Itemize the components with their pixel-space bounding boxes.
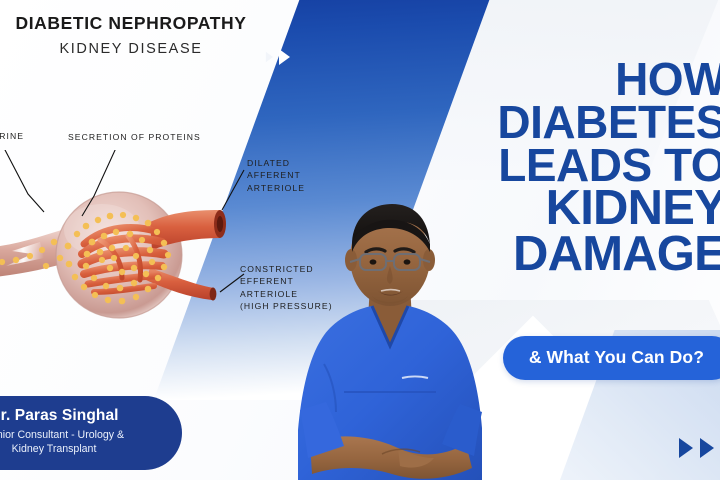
headline-line-4: KIDNEY <box>266 186 720 232</box>
presenter-role-line-1: Senior Consultant - Urology & <box>0 428 156 443</box>
headline-line-2: DIABETES <box>266 101 720 144</box>
presenter-name: Dr. Paras Singhal <box>0 407 156 425</box>
headline-line-5: DAMAGE <box>266 232 720 278</box>
play-triangle-icon <box>700 438 714 458</box>
cta-pill[interactable]: & What You Can Do? <box>503 336 720 380</box>
diagram-label-urine: URINE <box>0 130 24 142</box>
presenter-role: Senior Consultant - Urology & Kidney Tra… <box>0 428 156 457</box>
presenter-name-badge: Dr. Paras Singhal Senior Consultant - Ur… <box>0 396 182 470</box>
poster-canvas: DIABETIC NEPHROPATHY KIDNEY DISEASE <box>0 0 720 480</box>
topic-kicker: DIABETIC NEPHROPATHY <box>0 14 262 33</box>
glomerulus-diagram <box>0 150 282 350</box>
corner-arrow-group <box>679 438 714 458</box>
topic-heading-block: DIABETIC NEPHROPATHY KIDNEY DISEASE <box>0 14 262 58</box>
topic-subtitle: KIDNEY DISEASE <box>0 42 262 58</box>
headline-block: HOW DIABETES LEADS TO KIDNEY DAMAGE <box>266 58 720 277</box>
headline-line-1: HOW <box>266 58 720 101</box>
presenter-role-line-2: Kidney Transplant <box>0 442 156 457</box>
diagram-label-secretion: SECRETION OF PROTEINS <box>68 131 201 143</box>
play-triangle-icon <box>679 438 693 458</box>
headline-line-3: LEADS TO <box>266 144 720 187</box>
